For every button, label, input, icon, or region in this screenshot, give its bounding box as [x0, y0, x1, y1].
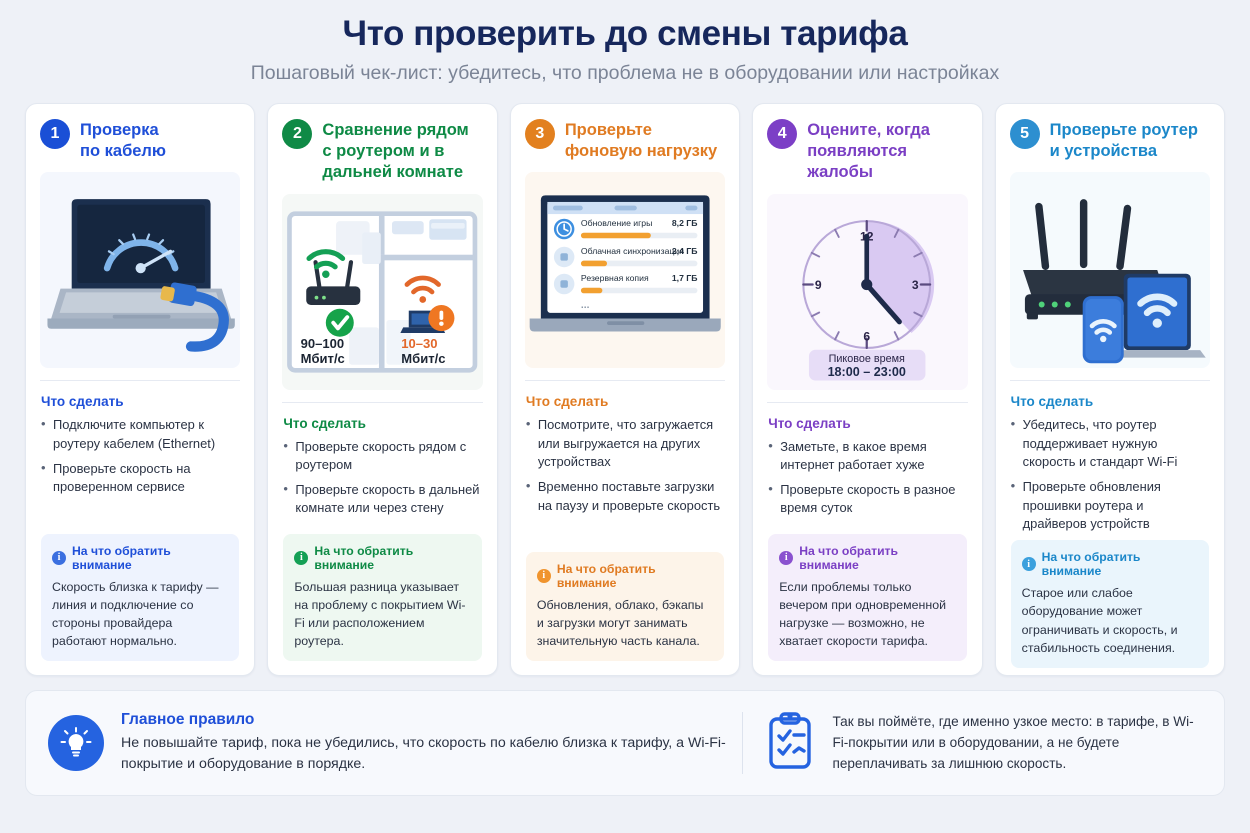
- card-1-body: Что сделать Подключите компьютер к роуте…: [26, 381, 254, 675]
- card-2-title: Сравнение рядомс роутером и вдальней ком…: [322, 118, 468, 183]
- card-5-todo-list: Убедитесь, что роутер поддерживает нужну…: [1011, 416, 1209, 540]
- card-1-note-text: Скорость близка к тарифу — линия и подкл…: [52, 578, 228, 650]
- card-1-todo-label: Что сделать: [41, 394, 239, 409]
- card-5-todo-label: Что сделать: [1011, 394, 1209, 409]
- card-5-body: Что сделать Убедитесь, что роутер поддер…: [996, 381, 1224, 676]
- peak-range: 18:00 – 23:00: [828, 364, 906, 378]
- card-3-title: Проверьтефоновую нагрузку: [565, 118, 717, 162]
- card-5-top: 5 Проверьте роутери устройства: [996, 104, 1224, 381]
- card-5-title: Проверьте роутери устройства: [1050, 118, 1198, 162]
- list-item: Проверьте скорость на проверенном сервис…: [41, 460, 239, 497]
- card-3-note-title: На что обратить внимание: [557, 562, 713, 590]
- card-3-note: i На что обратить внимание Обновления, о…: [526, 552, 724, 661]
- list-item: Проверьте скорость в разное время суток: [768, 481, 966, 518]
- download-row-label: Облачная синхронизация: [581, 247, 684, 257]
- footer-rule-text-block: Главное правило Не повышайте тариф, пока…: [121, 711, 738, 774]
- step-number-badge-1: 1: [40, 119, 70, 149]
- card-2-top: 2 Сравнение рядомс роутером и вдальней к…: [268, 104, 496, 402]
- laptop-background-downloads-illustration: Обновление игры 8,2 ГБ Облачная синхрони…: [525, 172, 725, 368]
- checklist-card-4[interactable]: 4 Оцените, когдапоявляются жалобы: [752, 103, 982, 676]
- card-4-note-title: На что обратить внимание: [799, 544, 955, 572]
- card-3-todo-list: Посмотрите, что загружается или выгружае…: [526, 416, 724, 522]
- clock-tick-9: 9: [815, 278, 822, 292]
- card-5-note-head: i На что обратить внимание: [1022, 550, 1198, 578]
- card-4-todo-list: Заметьте, в какое время интернет работае…: [768, 438, 966, 525]
- clock-tick-6: 6: [864, 329, 871, 343]
- info-icon: i: [537, 569, 551, 583]
- download-row-size: 2,4 ГБ: [672, 247, 698, 257]
- peak-caption: Пиковое время: [829, 352, 905, 364]
- clock-tick-3: 3: [912, 278, 919, 292]
- card-5-note-title: На что обратить внимание: [1042, 550, 1198, 578]
- card-3-todo-label: Что сделать: [526, 394, 724, 409]
- card-3-top: 3 Проверьтефоновую нагрузку Обновление и…: [511, 104, 739, 381]
- checklist-card-2[interactable]: 2 Сравнение рядомс роутером и вдальней к…: [267, 103, 497, 676]
- info-icon: i: [1022, 557, 1036, 571]
- checklist-cards: 1 Проверкапо кабелю: [0, 85, 1250, 676]
- list-item: Проверьте скорость рядом с роутером: [283, 438, 481, 475]
- card-1-top: 1 Проверкапо кабелю: [26, 104, 254, 381]
- analog-clock-peak-hours-illustration: 12 3 6 9 Пиковое время 18:00 – 23:00: [767, 194, 967, 390]
- footer-rule-body: Не повышайте тариф, пока не убедились, ч…: [121, 733, 738, 774]
- card-1-note-title: На что обратить внимание: [72, 544, 228, 572]
- card-1-note: i На что обратить внимание Скорость близ…: [41, 534, 239, 661]
- card-5-head: 5 Проверьте роутери устройства: [1010, 118, 1210, 162]
- more-rows-ellipsis: ...: [581, 301, 590, 312]
- info-icon: i: [52, 551, 66, 565]
- page-header: Что проверить до смены тарифа Пошаговый …: [0, 0, 1250, 85]
- floorplan-wifi-comparison-illustration: 90–100 Мбит/с 10–30: [282, 194, 482, 390]
- far-speed-line1: 10–30: [402, 335, 438, 350]
- card-3-head: 3 Проверьтефоновую нагрузку: [525, 118, 725, 162]
- card-2-todo-label: Что сделать: [283, 416, 481, 431]
- list-item: Посмотрите, что загружается или выгружае…: [526, 416, 724, 471]
- list-item: Убедитесь, что роутер поддерживает нужну…: [1011, 416, 1209, 471]
- card-4-head: 4 Оцените, когдапоявляются жалобы: [767, 118, 967, 183]
- card-4-note-head: i На что обратить внимание: [779, 544, 955, 572]
- list-item: Заметьте, в какое время интернет работае…: [768, 438, 966, 475]
- footer-rule-title: Главное правило: [121, 711, 738, 729]
- laptop-ethernet-speedtest-illustration: 95–100 Мбит/с: [40, 172, 240, 368]
- clipboard-checklist-icon: [766, 712, 814, 775]
- card-4-title: Оцените, когдапоявляются жалобы: [807, 118, 967, 183]
- lightbulb-icon: [48, 715, 104, 771]
- card-2-note: i На что обратить внимание Большая разни…: [283, 534, 481, 661]
- checklist-card-3[interactable]: 3 Проверьтефоновую нагрузку Обновление и…: [510, 103, 740, 676]
- page-title: Что проверить до смены тарифа: [0, 14, 1250, 53]
- footer-main-rule: Главное правило Не повышайте тариф, пока…: [48, 711, 738, 774]
- card-2-body: Что сделать Проверьте скорость рядом с р…: [268, 403, 496, 676]
- list-item: Проверьте обновления прошивки роутера и …: [1011, 478, 1209, 533]
- download-row-size: 1,7 ГБ: [672, 274, 698, 284]
- card-2-head: 2 Сравнение рядомс роутером и вдальней к…: [282, 118, 482, 183]
- download-row-label: Резервная копия: [581, 274, 649, 284]
- card-1-todo-list: Подключите компьютер к роутеру кабелем (…: [41, 416, 239, 503]
- card-4-note: i На что обратить внимание Если проблемы…: [768, 534, 966, 661]
- card-4-top: 4 Оцените, когдапоявляются жалобы: [753, 104, 981, 402]
- near-speed-line1: 90–100: [301, 335, 344, 350]
- router-phone-laptop-wifi-illustration: [1010, 172, 1210, 368]
- card-3-body: Что сделать Посмотрите, что загружается …: [511, 381, 739, 675]
- info-icon: i: [779, 551, 793, 565]
- step-number-badge-3: 3: [525, 119, 555, 149]
- step-number-badge-2: 2: [282, 119, 312, 149]
- card-1-note-head: i На что обратить внимание: [52, 544, 228, 572]
- card-2-note-head: i На что обратить внимание: [294, 544, 470, 572]
- info-icon: i: [294, 551, 308, 565]
- card-4-body: Что сделать Заметьте, в какое время инте…: [753, 403, 981, 676]
- footer-conclusion: Так вы поймёте, где именно узкое место: …: [766, 712, 1202, 775]
- card-3-note-head: i На что обратить внимание: [537, 562, 713, 590]
- footer-summary-bar: Главное правило Не повышайте тариф, пока…: [25, 690, 1225, 796]
- card-4-note-text: Если проблемы только вечером при одновре…: [779, 578, 955, 650]
- card-5-note: i На что обратить внимание Старое или сл…: [1011, 540, 1209, 667]
- card-2-note-text: Большая разница указывает на проблему с …: [294, 578, 470, 650]
- card-4-todo-label: Что сделать: [768, 416, 966, 431]
- step-number-badge-4: 4: [767, 119, 797, 149]
- far-speed-line2: Мбит/с: [402, 350, 446, 365]
- step-number-badge-5: 5: [1010, 119, 1040, 149]
- download-row-size: 8,2 ГБ: [672, 219, 698, 229]
- list-item: Проверьте скорость в дальней комнате или…: [283, 481, 481, 518]
- checklist-card-5[interactable]: 5 Проверьте роутери устройства: [995, 103, 1225, 676]
- checklist-card-1[interactable]: 1 Проверкапо кабелю: [25, 103, 255, 676]
- card-5-note-text: Старое или слабое оборудование может огр…: [1022, 584, 1198, 656]
- list-item: Подключите компьютер к роутеру кабелем (…: [41, 416, 239, 453]
- footer-conclusion-text: Так вы поймёте, где именно узкое место: …: [832, 712, 1202, 774]
- list-item: Временно поставьте загрузки на паузу и п…: [526, 478, 724, 515]
- card-2-todo-list: Проверьте скорость рядом с роутером Пров…: [283, 438, 481, 525]
- card-2-note-title: На что обратить внимание: [314, 544, 470, 572]
- card-1-head: 1 Проверкапо кабелю: [40, 118, 240, 162]
- card-1-title: Проверкапо кабелю: [80, 118, 166, 162]
- near-speed-line2: Мбит/с: [301, 350, 345, 365]
- download-row-label: Обновление игры: [581, 219, 652, 229]
- page-subtitle: Пошаговый чек-лист: убедитесь, что пробл…: [0, 62, 1250, 85]
- card-3-note-text: Обновления, облако, бэкапы и загрузки мо…: [537, 596, 713, 650]
